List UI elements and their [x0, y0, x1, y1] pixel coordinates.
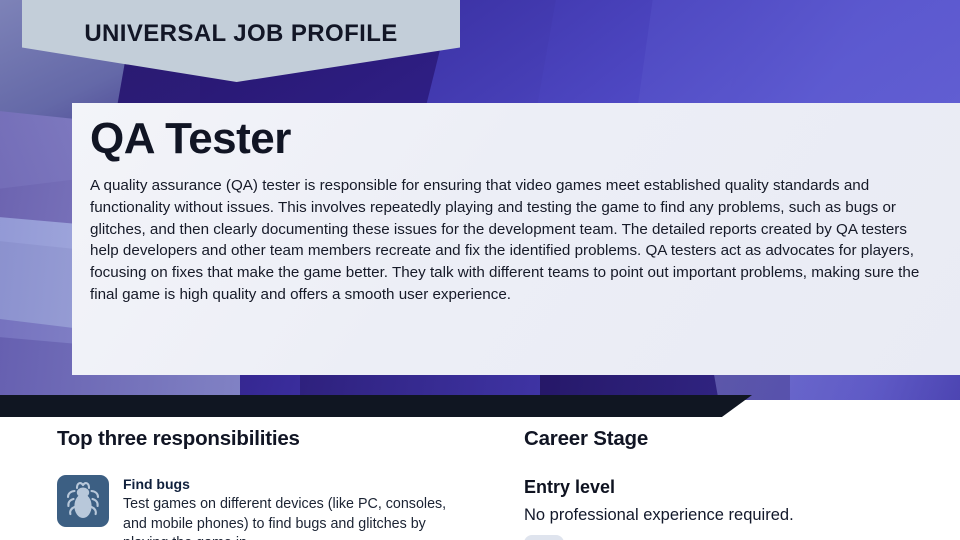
job-description: A quality assurance (QA) tester is respo… [90, 175, 930, 306]
responsibility-text: Test games on different devices (like PC… [123, 495, 453, 540]
bug-icon [57, 475, 109, 527]
responsibility-title: Find bugs [123, 476, 453, 492]
banner-label: UNIVERSAL JOB PROFILE [84, 20, 397, 48]
list-item: Find bugs Test games on different device… [57, 475, 487, 540]
page-title: QA Tester [90, 117, 930, 161]
career-stage-heading: Career Stage [524, 427, 944, 451]
job-overview-card: QA Tester A quality assurance (QA) teste… [72, 103, 960, 375]
section-divider-bar [0, 395, 752, 417]
responsibilities-heading: Top three responsibilities [57, 427, 487, 451]
responsibilities-column: Top three responsibilities [57, 417, 487, 540]
career-stage-detail: No professional experience required. [524, 506, 944, 525]
responsibility-body: Find bugs Test games on different device… [123, 475, 453, 540]
bottom-section: Top three responsibilities [0, 417, 960, 540]
next-stage-icon [524, 535, 564, 540]
career-stage-column: Career Stage Entry level No professional… [524, 417, 944, 525]
career-stage-level: Entry level [524, 477, 944, 498]
